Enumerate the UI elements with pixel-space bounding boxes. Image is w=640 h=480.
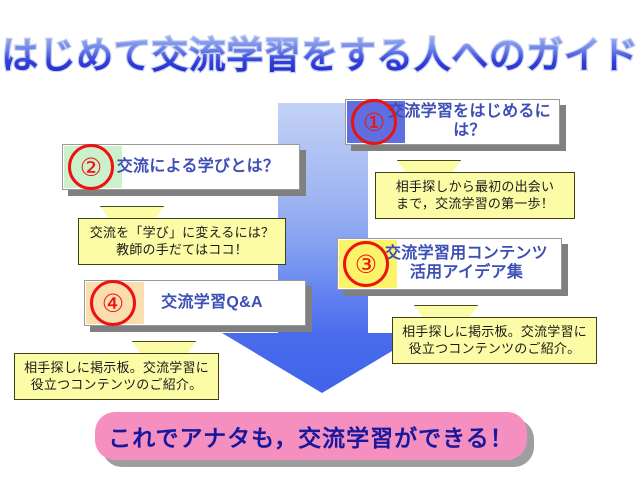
topic-box-4[interactable]: 交流学習Q&A ④ [84, 280, 306, 326]
badge-number-2: ② [68, 144, 114, 190]
callout-2-body: 交流を「学び」に変えるには？ 教師の手だてはココ！ [78, 218, 286, 265]
callout-3-line2: 役立つコンテンツのご紹介。 [401, 340, 588, 357]
callout-1-line2: まで，交流学習の第一歩！ [384, 195, 566, 212]
callout-3-line1: 相手探しに掲示板。交流学習に [401, 323, 588, 340]
topic-box-2[interactable]: 交流による学びとは？ ② [62, 144, 300, 190]
topic-box-3[interactable]: 交流学習用コンテンツ 活用アイデア集 ③ [337, 238, 562, 290]
callout-2-line2: 教師の手だてはココ！ [87, 241, 277, 258]
badge-number-3: ③ [343, 241, 389, 287]
conclusion-banner-text: これでアナタも，交流学習ができる！ [108, 419, 513, 453]
callout-4-body: 相手探しに掲示板。交流学習に 役立つコンテンツのご紹介。 [14, 353, 219, 400]
callout-1-body: 相手探しから最初の出会い まで，交流学習の第一歩！ [375, 172, 575, 219]
topic-box-3-label-line1: 交流学習用コンテンツ [372, 245, 561, 264]
slide-canvas: はじめて交流学習をする人へのガイド はじめて交流学習をする人へのガイド 交流学習… [0, 0, 640, 480]
banner-body: これでアナタも，交流学習ができる！ [95, 412, 527, 460]
callout-4-line2: 役立つコンテンツのご紹介。 [23, 376, 210, 393]
topic-box-1[interactable]: 交流学習をはじめるには？ ① [345, 99, 560, 145]
badge-number-1: ① [351, 99, 397, 145]
page-title: はじめて交流学習をする人へのガイド [0, 36, 640, 77]
topic-box-3-label-line2: 活用アイデア集 [372, 264, 561, 283]
badge-number-4: ④ [90, 280, 136, 326]
callout-2-line1: 交流を「学び」に変えるには？ [87, 224, 277, 241]
callout-4-line1: 相手探しに掲示板。交流学習に [23, 359, 210, 376]
conclusion-banner[interactable]: これでアナタも，交流学習ができる！ [95, 412, 527, 460]
callout-1-line1: 相手探しから最初の出会い [384, 178, 566, 195]
callout-3-body: 相手探しに掲示板。交流学習に 役立つコンテンツのご紹介。 [392, 317, 597, 364]
